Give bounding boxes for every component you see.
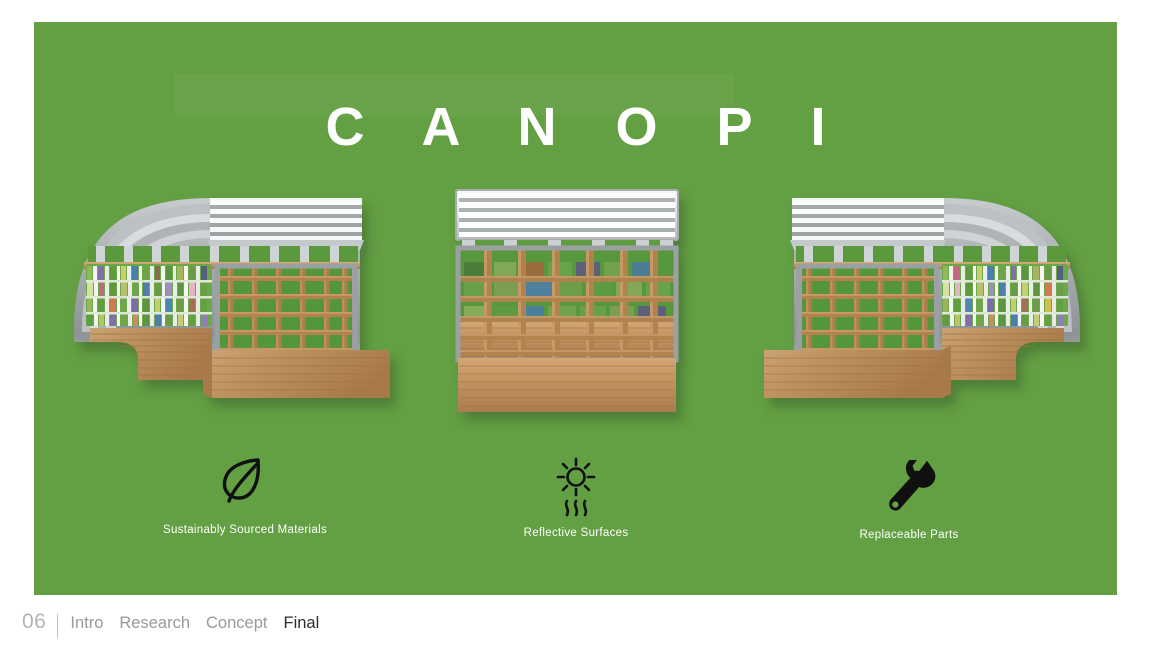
nav-item-list: Intro Research Concept Final (70, 614, 319, 633)
footer-navigation: 06 Intro Research Concept Final (22, 610, 319, 634)
canopy-render-perspective-left (60, 182, 430, 432)
canopy-render-front-elevation (446, 182, 706, 432)
sun-reflection-icon (446, 457, 706, 524)
feature-row: Sustainably Sourced Materials (34, 22, 1117, 595)
nav-item-research[interactable]: Research (119, 614, 190, 633)
slide-green-panel: C A N O P I (34, 22, 1117, 595)
nav-item-intro[interactable]: Intro (70, 614, 103, 633)
feature-caption: Replaceable Parts (724, 529, 1094, 541)
canopy-render-perspective-right (724, 182, 1094, 432)
leaf-icon (60, 454, 430, 511)
feature-reflective-surfaces[interactable]: Reflective Surfaces (446, 182, 706, 432)
feature-caption: Reflective Surfaces (446, 527, 706, 539)
slide-canvas: C A N O P I (0, 0, 1152, 648)
page-number: 06 (22, 610, 57, 634)
nav-item-final[interactable]: Final (283, 614, 319, 633)
wrench-icon (724, 460, 1094, 519)
nav-divider (57, 614, 58, 638)
feature-replaceable-parts[interactable]: Replaceable Parts (724, 182, 1094, 432)
feature-caption: Sustainably Sourced Materials (60, 524, 430, 536)
feature-sustainably-sourced-materials[interactable]: Sustainably Sourced Materials (60, 182, 430, 432)
nav-item-concept[interactable]: Concept (206, 614, 267, 633)
